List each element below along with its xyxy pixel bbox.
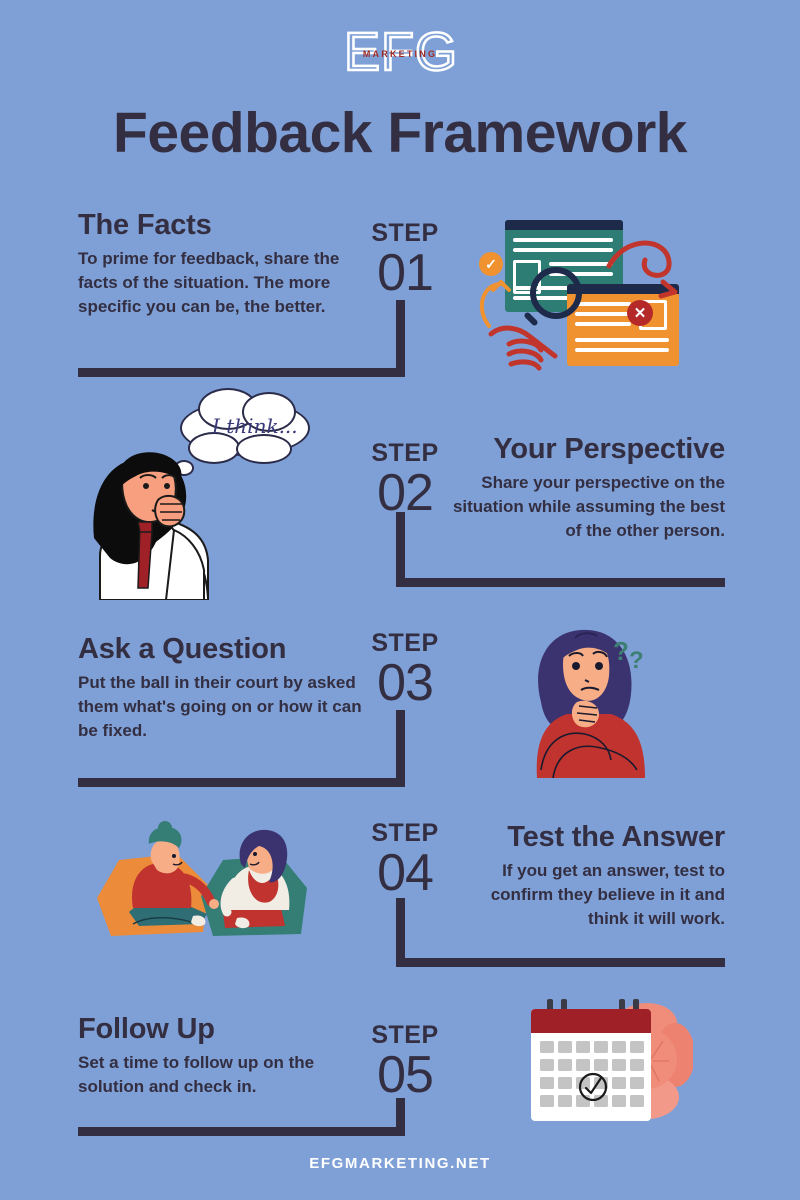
thought-bubble-text: I think... (212, 414, 298, 438)
question-mark-icon: ? (613, 636, 629, 666)
step-body-01: To prime for feedback, share the facts o… (78, 247, 350, 319)
step-body-04: If you get an answer, test to confirm th… (450, 859, 725, 931)
magnifier-icon (530, 267, 582, 319)
step-label-05: STEP (355, 1022, 455, 1049)
step-number-01: STEP 01 (355, 220, 455, 299)
two-people-talking-illustration (95, 820, 310, 940)
step-label-04: STEP (355, 820, 455, 847)
step-digits-05: 05 (355, 1049, 455, 1101)
step-digits-01: 01 (355, 247, 455, 299)
step-art-04 (95, 820, 310, 940)
step-label-01: STEP (355, 220, 455, 247)
close-badge-icon: ✕ (627, 300, 653, 326)
step-digits-04: 04 (355, 847, 455, 899)
hand-with-pen-illustration (485, 316, 575, 376)
page-title: Feedback Framework (0, 100, 800, 166)
step-art-02: I think... (70, 398, 302, 598)
timeline-rail-step2 (396, 578, 725, 587)
step-heading-04: Test the Answer (450, 820, 725, 854)
step-number-04: STEP 04 (355, 820, 455, 899)
footer-url: EFGMARKETING.NET (0, 1155, 800, 1172)
timeline-spine-step1 (396, 300, 405, 376)
step-number-03: STEP 03 (355, 630, 455, 709)
step-art-03: ? ? (515, 620, 665, 780)
step-text-01: The Facts To prime for feedback, share t… (78, 208, 350, 319)
step-number-05: STEP 05 (355, 1022, 455, 1101)
step-art-05 (515, 995, 690, 1125)
step-heading-01: The Facts (78, 208, 350, 242)
red-squiggle-decoration (605, 230, 685, 300)
step-heading-05: Follow Up (78, 1012, 350, 1046)
timeline-rail-step4 (396, 958, 725, 967)
circled-check-icon (577, 1071, 609, 1103)
step-digits-02: 02 (355, 467, 455, 519)
step-body-05: Set a time to follow up on the solution … (78, 1051, 350, 1099)
fact-check-illustration: ✓ ✕ (475, 212, 690, 372)
question-mark-icon: ? (629, 647, 644, 674)
two-people-figures (95, 820, 310, 945)
step-body-02: Share your perspective on the situation … (450, 471, 725, 543)
thinking-person-illustration: I think... (70, 398, 302, 598)
logo-marketing-text: MARKETING (344, 49, 456, 59)
puzzled-woman-illustration: ? ? (515, 620, 665, 780)
step-label-02: STEP (355, 440, 455, 467)
puzzled-woman-figure: ? ? (515, 620, 665, 780)
step-art-01: ✓ ✕ (475, 212, 690, 372)
brand-logo: EFG MARKETING (0, 18, 800, 86)
timeline-spine-step3 (396, 710, 405, 786)
step-text-05: Follow Up Set a time to follow up on the… (78, 1012, 350, 1099)
step-label-03: STEP (355, 630, 455, 657)
calendar-illustration (515, 995, 690, 1125)
calendar-header (531, 1009, 651, 1033)
step-number-02: STEP 02 (355, 440, 455, 519)
step-text-02: Your Perspective Share your perspective … (450, 432, 725, 543)
check-badge-icon: ✓ (479, 252, 503, 276)
timeline-spine-step2 (396, 512, 405, 586)
timeline-rail-step5 (78, 1127, 405, 1136)
person-figure (70, 438, 245, 600)
step-heading-02: Your Perspective (450, 432, 725, 466)
step-body-03: Put the ball in their court by asked the… (78, 671, 366, 743)
step-digits-03: 03 (355, 657, 455, 709)
timeline-spine-step4 (396, 898, 405, 966)
step-text-04: Test the Answer If you get an answer, te… (450, 820, 725, 931)
logo-wrap: EFG MARKETING (344, 24, 456, 80)
step-heading-03: Ask a Question (78, 632, 366, 666)
timeline-rail-step1 (78, 368, 405, 377)
step-text-03: Ask a Question Put the ball in their cou… (78, 632, 366, 743)
timeline-rail-step3 (78, 778, 405, 787)
window-titlebar (505, 220, 623, 230)
